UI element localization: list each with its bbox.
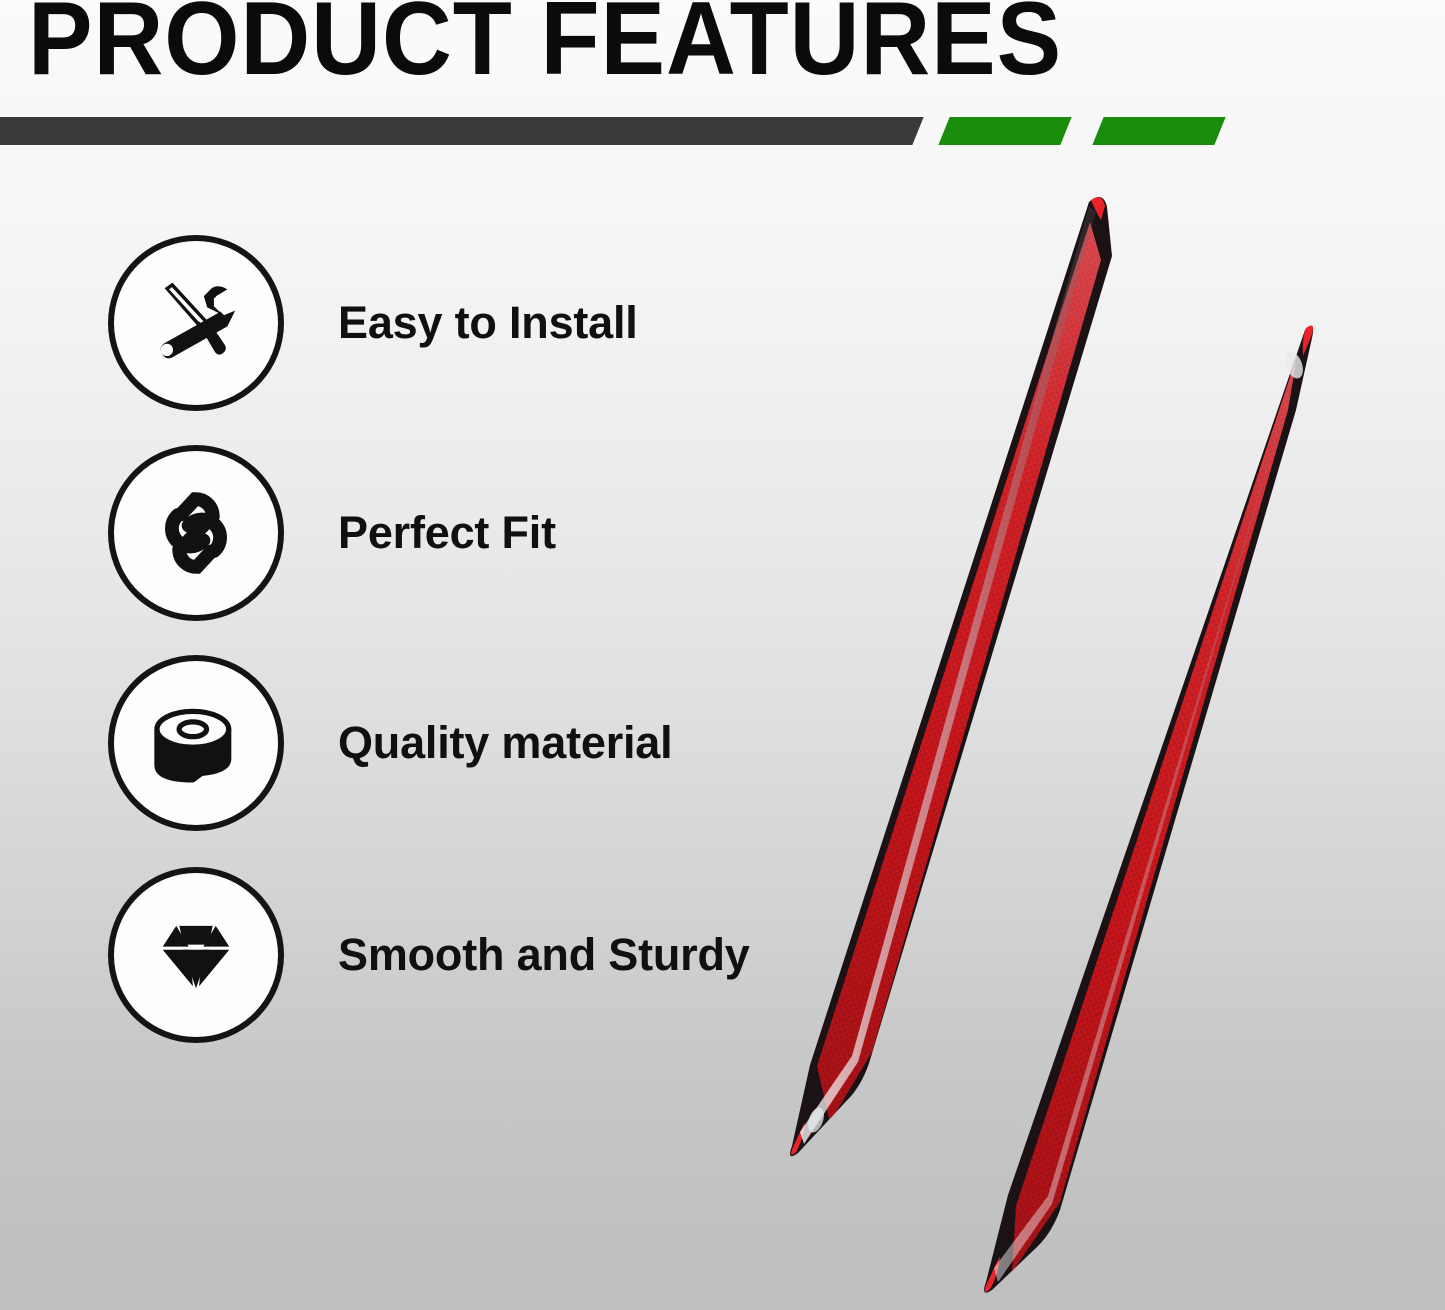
feature-label: Smooth and Sturdy	[338, 929, 750, 981]
product-image	[760, 160, 1445, 1310]
feature-list: Easy to Install Perfect	[0, 152, 760, 1310]
feature-item: Smooth and Sturdy	[108, 866, 768, 1044]
feature-item: Perfect Fit	[108, 444, 768, 622]
accent-rule-green-1	[938, 117, 1071, 145]
accent-rule-dark	[0, 117, 924, 145]
header-band: PRODUCT FEATURES	[0, 0, 1445, 152]
feature-label: Quality material	[338, 717, 672, 769]
reflector-strip-left	[790, 197, 1112, 1156]
feature-item: Quality material	[108, 654, 768, 832]
tools-icon	[108, 235, 284, 411]
feature-label: Easy to Install	[338, 297, 638, 349]
diamond-icon	[108, 867, 284, 1043]
page-title: PRODUCT FEATURES	[28, 0, 1062, 91]
accent-rule-green-2	[1092, 117, 1225, 145]
product-features-infographic: PRODUCT FEATURES	[0, 0, 1445, 1310]
feature-label: Perfect Fit	[338, 507, 556, 559]
title-accent-rules	[0, 117, 1445, 149]
tape-icon	[108, 655, 284, 831]
feature-item: Easy to Install	[108, 234, 768, 412]
link-icon	[108, 445, 284, 621]
